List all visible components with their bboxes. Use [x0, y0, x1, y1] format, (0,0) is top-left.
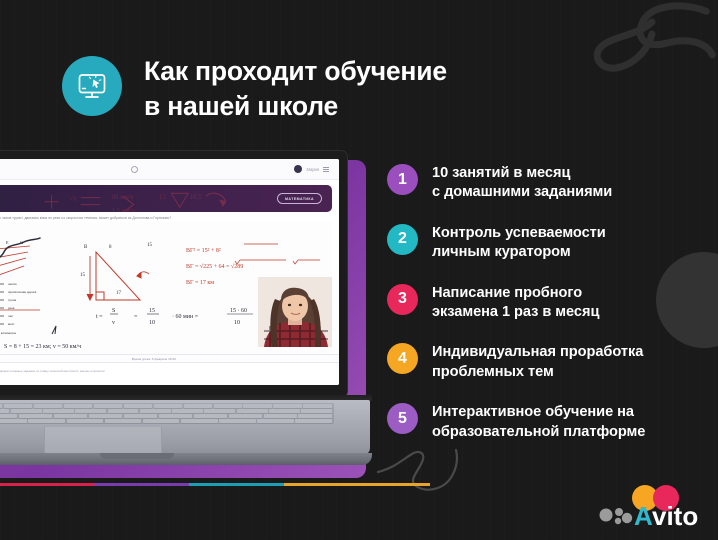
svg-text:18,5: 18,5 [189, 193, 202, 201]
laptop-mockup: U Умскул Мария [0, 150, 368, 480]
logo-dot-1 [600, 509, 613, 522]
task-banner: √x 60 км/ч 1,5 км/ч 15 18,5 Задание №4 М… [0, 185, 332, 212]
svg-text:t =: t = [96, 314, 103, 320]
list-item: 4 Индивидуальная проработка проблемных т… [387, 342, 687, 382]
hamburger-menu-icon[interactable] [323, 167, 329, 172]
svg-text:шоссе: шоссе [8, 282, 17, 286]
laptop-front-lip [0, 453, 372, 465]
svg-text:15: 15 [147, 243, 153, 248]
svg-text:√x: √x [70, 194, 78, 202]
svg-text:=: = [134, 314, 138, 320]
svg-text:8: 8 [109, 245, 112, 250]
search-area[interactable] [0, 166, 286, 173]
list-item: 1 10 занятий в месяц с домашними задания… [387, 163, 687, 203]
svg-text:17: 17 [116, 291, 122, 296]
svg-text:BГ = 17 км: BГ = 17 км [186, 280, 214, 286]
account-label: Мария [306, 167, 319, 172]
svg-text:· 60 мин =: · 60 мин = [172, 314, 199, 320]
svg-text:10: 10 [234, 320, 240, 326]
step-number-badge: 2 [387, 224, 418, 255]
svg-text:G: G [20, 240, 23, 245]
laptop-front-notch [100, 453, 174, 459]
svg-text:лес: лес [8, 314, 13, 318]
task-question-text: За какое наименьшее количество часов тур… [0, 216, 330, 221]
step-number-badge: 4 [387, 343, 418, 374]
search-icon[interactable] [131, 166, 138, 173]
tutor-video-thumbnail[interactable] [258, 277, 332, 347]
svg-text:просёлочная дорога: просёлочная дорога [8, 290, 37, 294]
svg-text:2ч. километры: 2ч. километры [0, 331, 16, 335]
laptop-screen: U Умскул Мария [0, 159, 339, 385]
svg-text:60 км/ч: 60 км/ч [111, 193, 133, 201]
step-number-badge: 1 [387, 164, 418, 195]
svg-text:10: 10 [149, 320, 155, 326]
header-icon-badge [62, 56, 122, 116]
lesson-date: Время урока: 5 февраля 16:00 [132, 357, 176, 361]
svg-text:BГ² = 15² + 8²: BГ² = 15² + 8² [186, 248, 221, 254]
logo-dot-3 [615, 518, 621, 524]
svg-text:BГ = √225 + 64 = √289: BГ = √225 + 64 = √289 [186, 263, 243, 270]
laptop-base [0, 395, 372, 470]
svg-text:1,5 км/ч: 1,5 км/ч [111, 207, 135, 212]
list-item-label: Индивидуальная проработка проблемных тем [432, 342, 643, 382]
desktop-monitor-cursor-icon [75, 69, 109, 103]
page-header: Как проходит обучение в нашей школе [62, 52, 447, 124]
page-title: Как проходит обучение в нашей школе [144, 52, 447, 124]
step-number-badge: 5 [387, 403, 418, 434]
subject-badge: МАТЕМАТИКА [277, 193, 322, 204]
logo-dot-4 [622, 513, 632, 523]
svg-text:тропа: тропа [8, 298, 16, 302]
svg-text:S: S [112, 308, 115, 314]
list-item: 2 Контроль успеваемости личным куратором [387, 223, 687, 263]
list-item-label: 10 занятий в месяц с домашними заданиями [432, 163, 612, 203]
svg-text:15 · 60: 15 · 60 [230, 308, 247, 314]
svg-text:B: B [84, 245, 88, 250]
list-item: 3 Написание пробного экзамена 1 раз в ме… [387, 283, 687, 323]
laptop-lid: U Умскул Мария [0, 150, 348, 398]
list-item-label: Написание пробного экзамена 1 раз в меся… [432, 283, 599, 323]
navbar-right[interactable]: Мария [294, 165, 329, 173]
laptop-trackpad [44, 427, 162, 453]
logo-text-vito: vito [652, 501, 698, 528]
svg-text:река: река [8, 306, 15, 310]
avatar[interactable] [294, 165, 302, 173]
laptop-keyboard [0, 403, 334, 424]
svg-text:15: 15 [80, 273, 86, 278]
svg-text:v: v [112, 320, 115, 326]
svg-text:15: 15 [149, 308, 155, 314]
lesson-meta-row: Длительность: 45 мин Время урока: 5 февр… [0, 354, 339, 363]
svg-text:15: 15 [159, 193, 166, 201]
svg-text:E: E [6, 240, 9, 245]
avito-logo: A vito [598, 484, 702, 528]
browser-navbar[interactable]: U Умскул Мария [0, 159, 339, 180]
list-item-label: Контроль успеваемости личным куратором [432, 223, 606, 263]
logo-letter-a: A [634, 501, 653, 528]
laptop-body [0, 400, 370, 455]
svg-text:мост: мост [8, 322, 15, 326]
step-number-badge: 3 [387, 284, 418, 315]
banner-math-decoration: √x 60 км/ч 1,5 км/ч 15 18,5 [39, 185, 262, 212]
accent-color-bar [0, 483, 430, 486]
logo-dot-2 [615, 508, 623, 516]
svg-text:S = 8 + 15 = 23 км; v = 50 к: S = 8 + 15 = 23 км; v = 50 км/ч [4, 344, 81, 350]
feature-list: 1 10 занятий в месяц с домашними задания… [387, 163, 687, 462]
list-item-label: Интерактивное обучение на образовательно… [432, 402, 645, 442]
list-item: 5 Интерактивное обучение на образователь… [387, 402, 687, 442]
decorative-loop-icon [590, 0, 718, 112]
lesson-caption: Если вдруг мы не успеваем, всё разбираем… [0, 363, 339, 385]
